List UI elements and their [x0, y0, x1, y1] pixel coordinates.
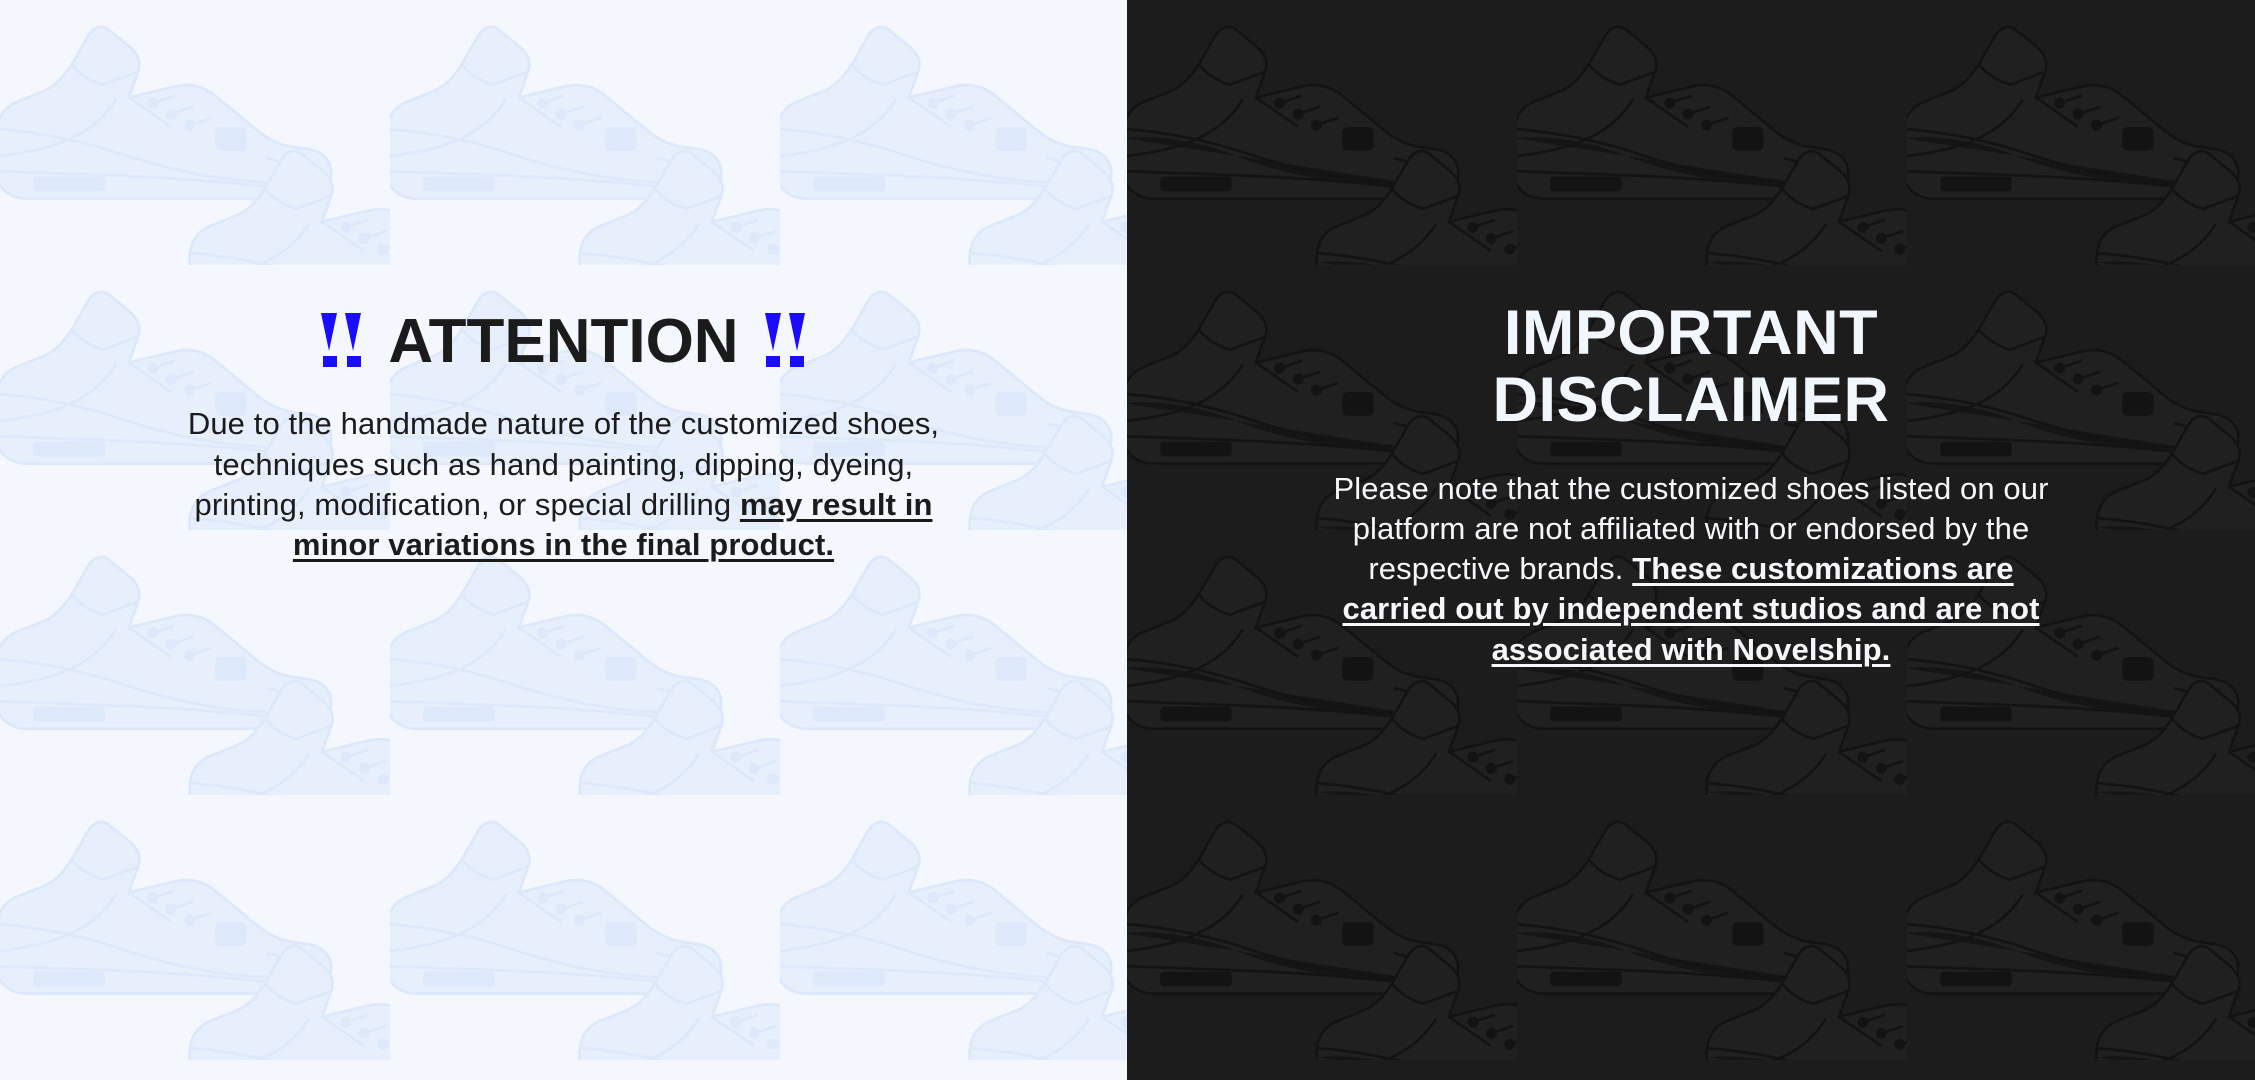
double-exclamation-icon-right — [765, 313, 806, 367]
attention-body: Due to the handmade nature of the custom… — [184, 404, 944, 565]
double-exclamation-icon-left — [321, 313, 362, 367]
attention-heading: ATTENTION — [321, 310, 805, 374]
attention-panel: ATTENTION Due to the handmade nature of … — [0, 0, 1127, 1080]
disclaimer-heading-line-1: IMPORTANT — [1127, 300, 2255, 367]
attention-content: ATTENTION Due to the handmade nature of … — [0, 310, 1127, 566]
dual-disclaimer-banner: ATTENTION Due to the handmade nature of … — [0, 0, 2255, 1080]
disclaimer-body: Please note that the customized shoes li… — [1321, 469, 2061, 670]
disclaimer-heading: IMPORTANT DISCLAIMER — [1127, 300, 2255, 434]
disclaimer-content: IMPORTANT DISCLAIMER Please note that th… — [1127, 300, 2255, 670]
disclaimer-panel: IMPORTANT DISCLAIMER Please note that th… — [1127, 0, 2255, 1080]
attention-heading-label: ATTENTION — [388, 310, 738, 374]
disclaimer-heading-line-2: DISCLAIMER — [1127, 367, 2255, 434]
